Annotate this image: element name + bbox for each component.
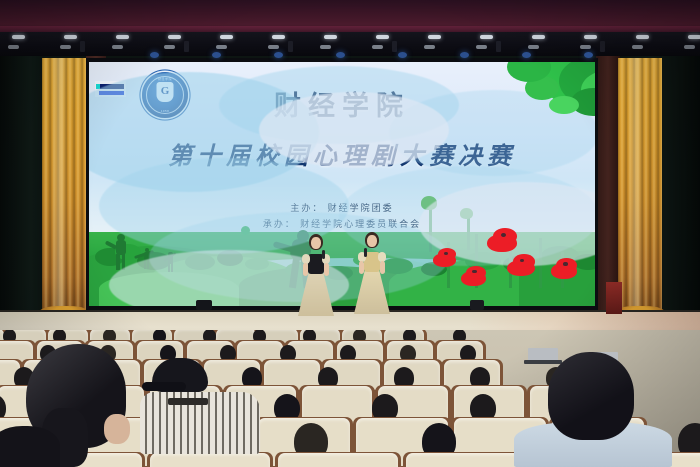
stage-wall-left-panel [0, 56, 44, 318]
golden-curtain-right [618, 58, 662, 316]
truss-blue-spotlight [522, 52, 531, 58]
truss-lamp [168, 35, 181, 39]
host-skirt [298, 272, 334, 316]
audience-seat [278, 453, 398, 467]
truss-lamp-secondary [476, 45, 487, 49]
maroon-pillar-right [596, 56, 620, 318]
led-screen: 财经学院 G 1958 财经学院 第十届校园心理剧大赛决赛 主办： 财经学院团委… [89, 62, 595, 306]
truss-lamp [428, 35, 441, 39]
curtain-highlight [52, 58, 67, 316]
led-screen-bezel: 财经学院 G 1958 财经学院 第十届校园心理剧大赛决赛 主办： 财经学院团委… [86, 58, 598, 312]
truss-lamp [272, 35, 285, 39]
host-arm [380, 261, 385, 274]
host-microphone [364, 248, 367, 257]
floor-monitor-speaker-right [470, 300, 484, 310]
auditorium-scene: 财经学院 G 1958 财经学院 第十届校园心理剧大赛决赛 主办： 财经学院团委… [0, 0, 700, 467]
truss-blue-spotlight [212, 52, 221, 58]
poppy-center [501, 233, 506, 237]
ponytail-ear-skin [104, 414, 130, 444]
truss-clip [496, 41, 501, 52]
audience-seat [406, 453, 526, 467]
truss-lamp-secondary [580, 45, 591, 49]
truss-lamp-secondary [268, 45, 279, 49]
cap-brim [142, 382, 186, 391]
floor-monitor-speaker-left [196, 300, 212, 310]
truss-lamp-secondary [528, 45, 539, 49]
silhouette-leg [116, 254, 120, 270]
poppy-flower-right [551, 258, 581, 284]
truss-lamp-secondary [632, 45, 643, 49]
seated-audience [0, 330, 700, 467]
truss-lamp-secondary [372, 45, 383, 49]
poppy-center [563, 262, 567, 266]
curtain-highlight [628, 58, 643, 316]
truss-lamp [220, 35, 233, 39]
truss-blue-spotlight [274, 52, 283, 58]
silhouette-torso [116, 240, 125, 255]
audience-seat [150, 453, 270, 467]
truss-lamp-secondary [320, 45, 331, 49]
truss-lamp-secondary [216, 45, 227, 49]
audience-laptop-base [524, 360, 562, 364]
host-face [367, 235, 377, 247]
poppy-flower-left [433, 248, 460, 271]
truss-clip [600, 41, 605, 52]
host-right [352, 230, 392, 314]
truss-blue-spotlight [460, 52, 469, 58]
truss-blue-spotlight [150, 52, 159, 58]
truss-lamp [480, 35, 493, 39]
host-face [311, 237, 321, 249]
truss-lamp [376, 35, 389, 39]
host-left [296, 232, 336, 316]
truss-lamp [584, 35, 597, 39]
truss-blue-spotlight [398, 52, 407, 58]
poppy-flower-low [461, 266, 489, 291]
truss-lamp-secondary [424, 45, 435, 49]
truss-lamp [532, 35, 545, 39]
truss-blue-spotlight [584, 52, 593, 58]
poppy-flower-mid [507, 254, 538, 282]
red-podium [606, 282, 622, 314]
host-arm [324, 263, 329, 276]
backdrop-tree-foliage [549, 96, 579, 114]
truss-lamp [636, 35, 649, 39]
truss-lamp-secondary [164, 45, 175, 49]
truss-clip [184, 41, 189, 52]
truss-lamp [64, 35, 77, 39]
truss-lamp-secondary [60, 45, 71, 49]
truss-lamp [688, 35, 700, 39]
host-microphone [322, 250, 325, 259]
audience-foreground-head-bottom-left [0, 426, 60, 467]
truss-lamp [116, 35, 129, 39]
poppy-center [444, 252, 448, 255]
truss-blue-spotlight [336, 52, 345, 58]
truss-lamp-secondary [8, 45, 19, 49]
host-arm [303, 263, 308, 276]
audience-foreground-head-right [548, 352, 634, 440]
truss-lamp [324, 35, 337, 39]
truss-clip [80, 41, 85, 52]
truss-lamp-secondary [112, 45, 123, 49]
truss-lamp-secondary [684, 45, 695, 49]
truss-lamp [12, 35, 25, 39]
truss-clip [288, 41, 293, 52]
sky-wash [259, 92, 449, 168]
truss-clip [392, 41, 397, 52]
golden-curtain-left [42, 58, 86, 316]
overhead-lighting-truss [0, 32, 700, 56]
audience-plaid-jacket [140, 392, 260, 454]
host-arm [359, 261, 364, 274]
host-skirt [354, 270, 390, 314]
jacket-label [168, 398, 208, 405]
